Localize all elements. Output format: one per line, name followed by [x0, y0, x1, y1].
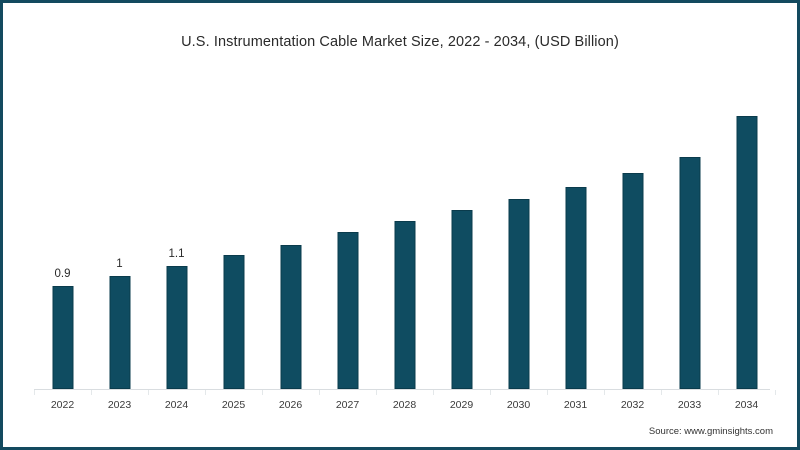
x-axis-tick	[661, 390, 662, 395]
x-axis-tick	[718, 390, 719, 395]
x-axis-tick-label: 2024	[148, 399, 205, 411]
bar[interactable]	[166, 266, 187, 389]
bar-column	[718, 63, 775, 389]
x-axis-tick	[433, 390, 434, 395]
bar-column	[319, 63, 376, 389]
bar-column	[490, 63, 547, 389]
x-axis-tick-label: 2023	[91, 399, 148, 411]
bar[interactable]	[565, 187, 586, 389]
bar-column	[547, 63, 604, 389]
bar[interactable]	[622, 173, 643, 389]
chart-frame: U.S. Instrumentation Cable Market Size, …	[0, 0, 800, 450]
bar[interactable]	[679, 157, 700, 389]
x-axis-tick-label: 2029	[433, 399, 490, 411]
x-axis-tick-label: 2028	[376, 399, 433, 411]
bar[interactable]	[508, 199, 529, 389]
x-axis-tick	[148, 390, 149, 395]
bar[interactable]	[394, 221, 415, 389]
bar[interactable]	[223, 255, 244, 389]
x-axis-line	[34, 389, 770, 390]
x-axis-tick-label: 2032	[604, 399, 661, 411]
bar-value-label: 1	[116, 258, 122, 270]
bar[interactable]	[280, 245, 301, 389]
x-axis-tick	[775, 390, 776, 395]
bar-value-label: 1.1	[169, 248, 185, 260]
bar-value-label: 0.9	[55, 268, 71, 280]
plot-area: 0.911.1	[34, 63, 767, 389]
chart-title: U.S. Instrumentation Cable Market Size, …	[3, 34, 797, 50]
bar-column	[205, 63, 262, 389]
x-axis-tick	[490, 390, 491, 395]
source-attribution: Source: www.gminsights.com	[649, 426, 773, 437]
x-axis-tick-label: 2031	[547, 399, 604, 411]
bar[interactable]	[451, 210, 472, 389]
x-axis-tick-label: 2022	[34, 399, 91, 411]
x-axis-tick-label: 2025	[205, 399, 262, 411]
x-axis-tick	[319, 390, 320, 395]
x-axis-tick-label: 2034	[718, 399, 775, 411]
bar[interactable]	[52, 286, 73, 389]
bar[interactable]	[337, 232, 358, 389]
x-axis-tick	[547, 390, 548, 395]
bar-column	[661, 63, 718, 389]
x-axis-tick	[91, 390, 92, 395]
x-axis-tick-label: 2033	[661, 399, 718, 411]
bar-column: 1	[91, 63, 148, 389]
bar[interactable]	[109, 276, 130, 389]
bar-column	[262, 63, 319, 389]
bar-column	[433, 63, 490, 389]
bar-column: 0.9	[34, 63, 91, 389]
bar-column: 1.1	[148, 63, 205, 389]
x-axis-tick-label: 2030	[490, 399, 547, 411]
bar[interactable]	[736, 116, 757, 389]
x-axis-tick	[604, 390, 605, 395]
x-axis-tick-label: 2027	[319, 399, 376, 411]
x-axis-tick-label: 2026	[262, 399, 319, 411]
x-axis-tick	[262, 390, 263, 395]
x-axis-tick	[34, 390, 35, 395]
x-axis-tick	[376, 390, 377, 395]
x-axis-tick	[205, 390, 206, 395]
bar-column	[604, 63, 661, 389]
chart-canvas: U.S. Instrumentation Cable Market Size, …	[3, 3, 797, 447]
bar-column	[376, 63, 433, 389]
